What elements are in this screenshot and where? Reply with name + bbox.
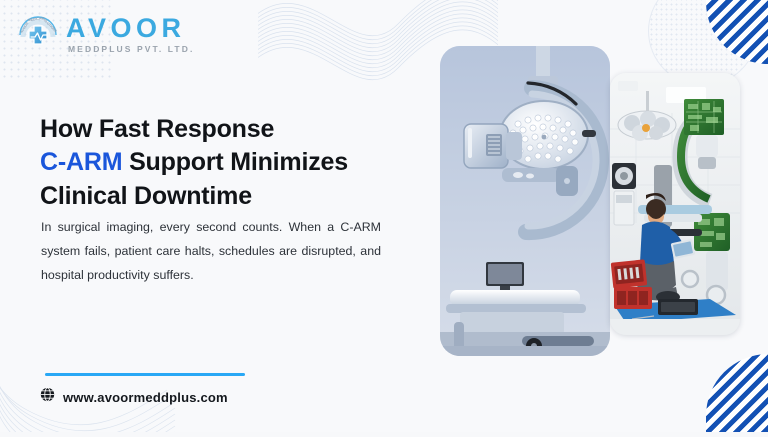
headline-accent-term: C-ARM	[40, 148, 122, 176]
technician-servicing-c-arm-image	[610, 73, 740, 335]
page-title: How Fast Response C-ARM Support Minimize…	[40, 113, 400, 213]
website-url: www.avoormeddplus.com	[63, 390, 228, 405]
globe-icon	[40, 387, 55, 407]
brand-logo[interactable]: AVOOR MEDICAL SOLUTIONS AVOOR MEDDPLUS P…	[14, 9, 194, 57]
body-paragraph: In surgical imaging, every second counts…	[41, 216, 381, 287]
c-arm-machine-image	[440, 46, 610, 356]
poster-canvas: AVOOR MEDICAL SOLUTIONS AVOOR MEDDPLUS P…	[0, 0, 768, 432]
headline-line-3: Clinical Downtime	[40, 182, 252, 210]
brand-tagline: MEDDPLUS PVT. LTD.	[68, 45, 194, 54]
headline-line-2: Support Minimizes	[122, 148, 348, 176]
headline-line-1: How Fast Response	[40, 115, 274, 143]
brand-wordmark: AVOOR	[66, 15, 194, 42]
medical-cross-shield-icon: AVOOR MEDICAL SOLUTIONS	[14, 9, 62, 57]
footer-divider	[45, 373, 245, 376]
footer-website[interactable]: www.avoormeddplus.com	[40, 387, 228, 407]
wave-lines-decor-bottom	[0, 282, 210, 432]
diagonal-stripes-decor-top-right	[706, 0, 768, 64]
diagonal-stripes-decor-bottom-right	[706, 354, 768, 432]
